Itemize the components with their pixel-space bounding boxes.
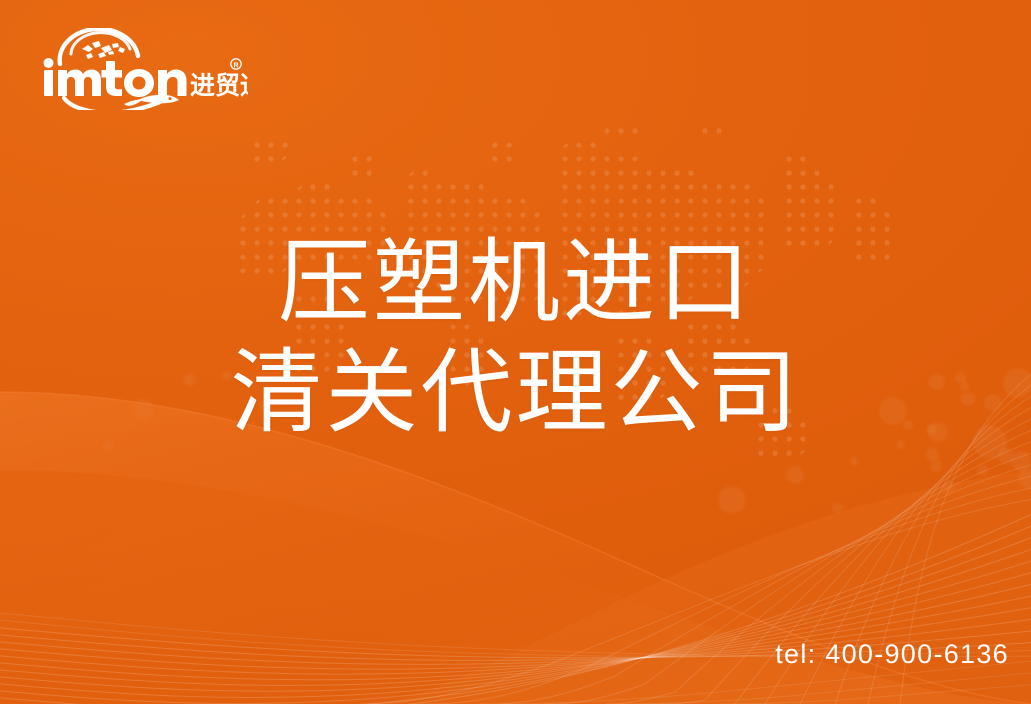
svg-text:R: R [233, 63, 238, 70]
registered-mark-icon: R [231, 59, 241, 70]
dragon-swoosh-icon [64, 95, 179, 110]
poster-canvas: 压塑机进口 清关代理公司 tel: 400-900-6136 [0, 0, 1031, 704]
telephone-text: tel: 400-900-6136 [775, 639, 1009, 670]
logo-wordmark [44, 58, 187, 97]
svg-text:进贸通: 进贸通 [190, 71, 248, 100]
globe-arc-icon [60, 29, 138, 64]
brand-logo-svg: 进贸通 R [38, 28, 248, 110]
brand-logo[interactable]: 进贸通 R [38, 28, 248, 110]
logo-chinese-name: 进贸通 [190, 71, 248, 100]
